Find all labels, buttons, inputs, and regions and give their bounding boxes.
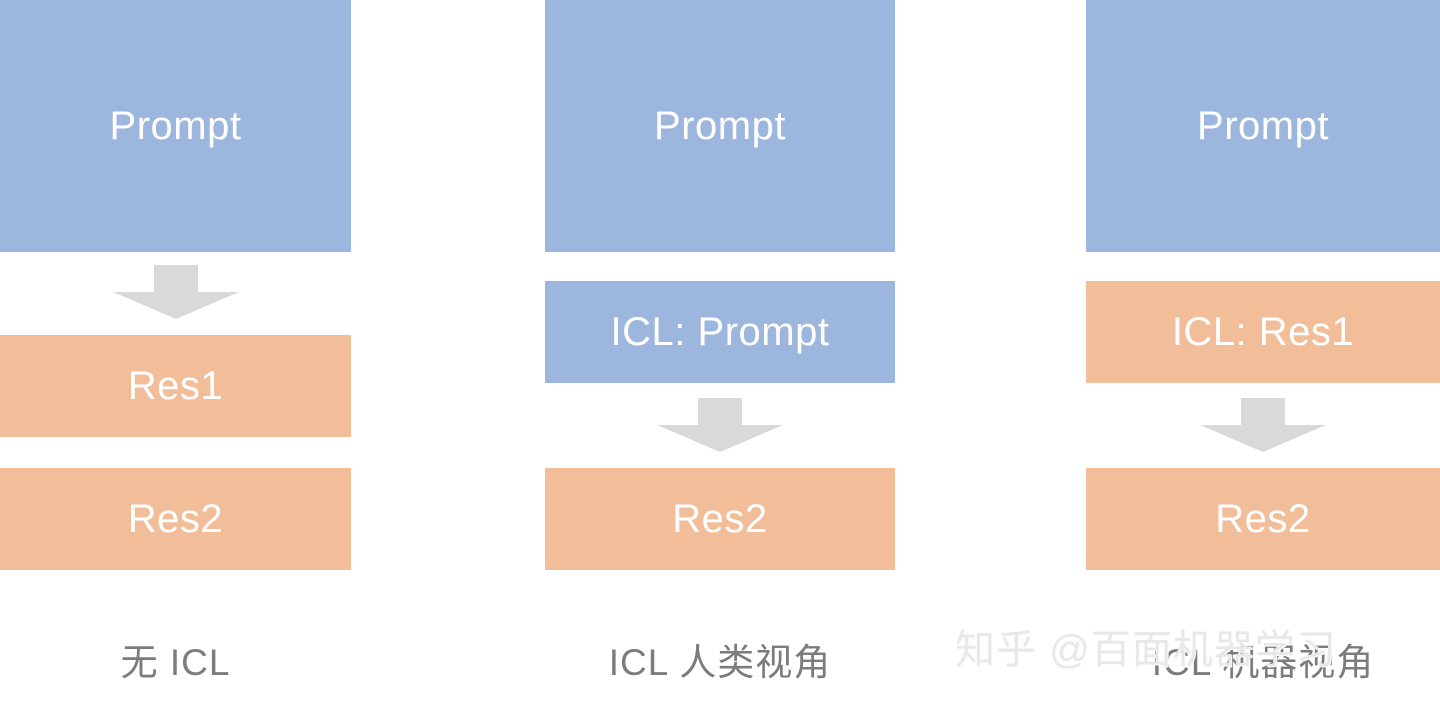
column-caption-icl-machine: ICL 机器视角 [1086,632,1440,686]
box-prompt: Prompt [0,0,351,252]
box-res2: Res2 [0,468,351,570]
diagram-column-icl-human: Prompt ICL: Prompt Res2 ICL 人类视角 [545,0,895,707]
box-prompt: Prompt [1086,0,1440,252]
box-label: ICL: Prompt [611,312,830,352]
arrow-down-icon [657,398,783,452]
column-caption-no-icl: 无 ICL [0,632,351,686]
box-res1: Res1 [0,335,351,437]
diagram-column-no-icl: Prompt Res1 Res2 无 ICL [0,0,351,707]
box-label: Res1 [128,366,223,406]
diagram-column-icl-machine: Prompt ICL: Res1 Res2 ICL 机器视角 [1086,0,1440,707]
column-caption-icl-human: ICL 人类视角 [545,632,895,686]
box-label: Res2 [1215,499,1310,539]
box-label: ICL: Res1 [1172,312,1354,352]
box-label: Res2 [672,499,767,539]
box-icl-res1: ICL: Res1 [1086,281,1440,383]
box-res2: Res2 [1086,468,1440,570]
box-label: Prompt [654,106,786,146]
box-res2: Res2 [545,468,895,570]
box-label: Prompt [110,106,242,146]
box-prompt: Prompt [545,0,895,252]
diagram-canvas: Prompt Res1 Res2 无 ICL Prompt ICL: Promp… [0,0,1440,707]
arrow-down-icon [113,265,239,319]
arrow-down-icon [1200,398,1326,452]
box-label: Prompt [1197,106,1329,146]
box-icl-prompt: ICL: Prompt [545,281,895,383]
box-label: Res2 [128,499,223,539]
